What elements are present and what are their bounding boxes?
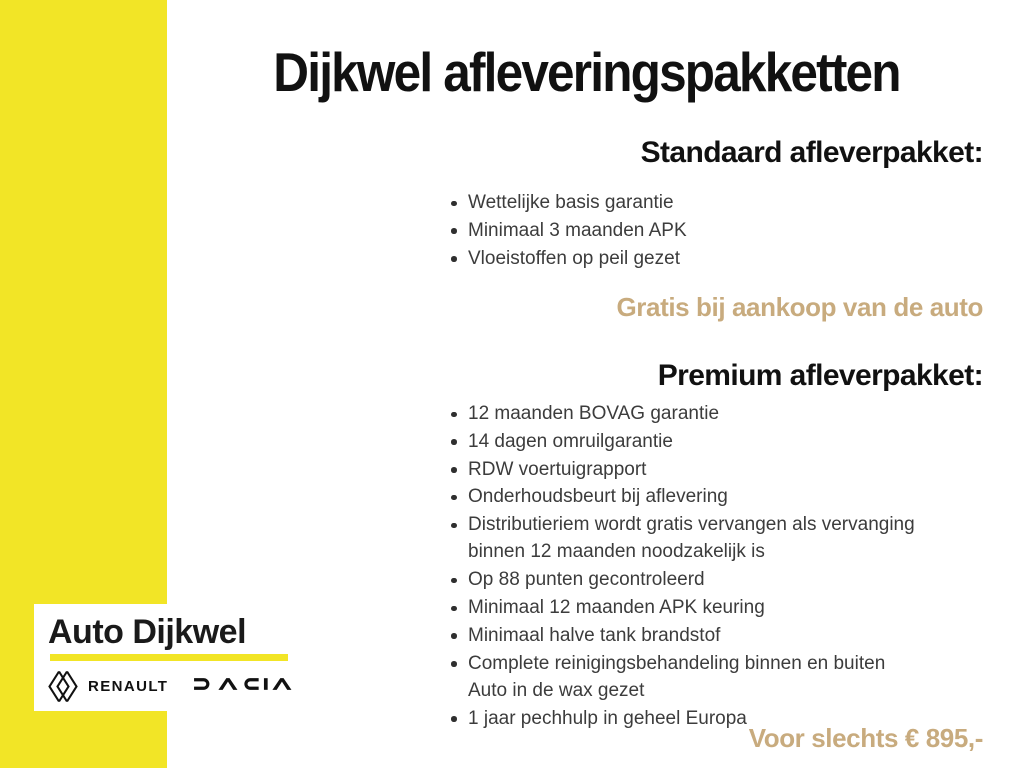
feature-text: Minimaal halve tank brandstof: [468, 625, 720, 646]
renault-label: RENAULT: [88, 678, 168, 695]
list-item: Vloeistoffen op peil gezet: [447, 245, 983, 272]
list-item: 14 dagen omruilgarantie: [447, 428, 983, 455]
feature-text-continuation: Auto in de wax gezet: [468, 677, 983, 704]
feature-text: Wettelijke basis garantie: [468, 192, 674, 213]
list-item: Onderhoudsbeurt bij aflevering: [447, 483, 983, 510]
list-item: Minimaal 3 maanden APK: [447, 217, 983, 244]
feature-text: Vloeistoffen op peil gezet: [468, 248, 680, 269]
dealer-logo-lockup: Auto Dijkwel RENAULT: [34, 604, 305, 711]
feature-text: Complete reinigingsbehandeling binnen en…: [468, 653, 885, 674]
premium-package-price: Voor slechts € 895,-: [190, 722, 983, 754]
feature-text: 14 dagen omruilgarantie: [468, 431, 673, 452]
list-item: 12 maanden BOVAG garantie: [447, 400, 983, 427]
slide-canvas: Dijkwel afleveringspakketten Standaard a…: [0, 0, 1024, 768]
standard-package-promo: Gratis bij aankoop van de auto: [190, 291, 983, 323]
list-item: Minimaal 12 maanden APK keuring: [447, 594, 983, 621]
logo-yellow-rule: [50, 654, 288, 661]
feature-text: Onderhoudsbeurt bij aflevering: [468, 486, 728, 507]
feature-text-continuation: binnen 12 maanden noodzakelijk is: [468, 538, 983, 565]
brand-row: RENAULT: [48, 670, 291, 703]
feature-text: Minimaal 3 maanden APK: [468, 220, 687, 241]
standard-package-feature-list: Wettelijke basis garantie Minimaal 3 maa…: [447, 189, 983, 272]
page-title: Dijkwel afleveringspakketten: [230, 41, 944, 103]
feature-text: Minimaal 12 maanden APK keuring: [468, 597, 765, 618]
list-item: Wettelijke basis garantie: [447, 189, 983, 216]
premium-package-feature-list: 12 maanden BOVAG garantie 14 dagen omrui…: [447, 400, 983, 733]
feature-text: Op 88 punten gecontroleerd: [468, 569, 705, 590]
content-column: Dijkwel afleveringspakketten Standaard a…: [190, 0, 983, 768]
dealer-wordmark: Auto Dijkwel: [48, 613, 291, 651]
list-item: Minimaal halve tank brandstof: [447, 622, 983, 649]
feature-text: Distributieriem wordt gratis vervangen a…: [468, 514, 915, 535]
feature-text: 12 maanden BOVAG garantie: [468, 403, 719, 424]
standard-package-heading: Standaard afleverpakket:: [190, 135, 983, 171]
list-item: Distributieriem wordt gratis vervangen a…: [447, 511, 983, 566]
list-item: Op 88 punten gecontroleerd: [447, 566, 983, 593]
dacia-wordmark-icon: [194, 675, 300, 698]
feature-text: RDW voertuigrapport: [468, 459, 646, 480]
renault-diamond-icon: [48, 670, 78, 703]
list-item: RDW voertuigrapport: [447, 456, 983, 483]
premium-package-heading: Premium afleverpakket:: [190, 358, 983, 394]
list-item: Complete reinigingsbehandeling binnen en…: [447, 650, 983, 705]
